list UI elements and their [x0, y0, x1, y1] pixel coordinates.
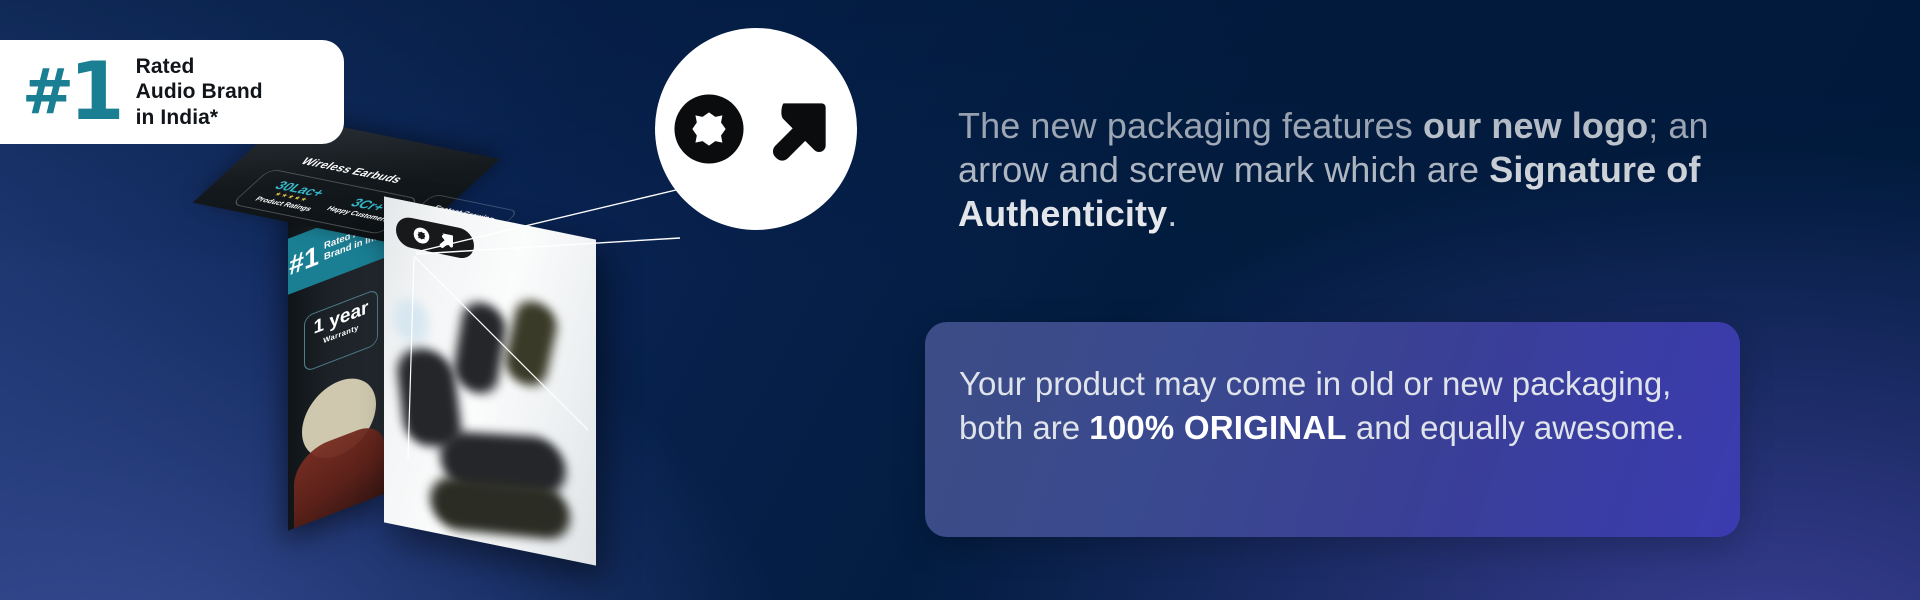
logo-callout-circle [655, 28, 857, 230]
screw-mark-icon [413, 225, 430, 245]
note-part-2: and equally awesome. [1347, 409, 1685, 446]
badge-line-2: Audio Brand [136, 79, 263, 105]
badge-number: #1 [22, 58, 122, 127]
arrow-up-right-icon [760, 89, 840, 169]
rated-number-one-badge: #1 Rated Audio Brand in India* [0, 40, 344, 144]
package-earbuds-photo [394, 256, 588, 555]
badge-line-1: Rated [136, 54, 263, 80]
note-bold-1: 100% ORIGINAL [1089, 409, 1347, 446]
headline-part-3: . [1167, 193, 1177, 234]
badge-one: 1 [69, 58, 122, 127]
badge-line-3: in India* [136, 105, 263, 131]
original-note-card: Your product may come in old or new pack… [925, 322, 1740, 537]
promo-banner: #1 Rated Audio Brand in India* #1 Rated … [0, 0, 1920, 600]
arrow-up-right-icon [436, 228, 457, 253]
screw-mark-icon [672, 92, 746, 166]
product-package-image: #1 Rated Audio Brand in India 1 year War… [288, 130, 708, 550]
badge-text: Rated Audio Brand in India* [136, 54, 263, 131]
note-text: Your product may come in old or new pack… [959, 362, 1694, 449]
headline-text: The new packaging features our new logo;… [958, 104, 1788, 236]
headline-bold-1: our new logo [1423, 105, 1648, 146]
badge-hash-symbol: # [22, 65, 71, 118]
earbud-glow [394, 296, 428, 345]
package-side-hash: #1 [289, 241, 319, 280]
earbud-left [451, 296, 509, 400]
package-front-logo-badge [396, 215, 474, 261]
package-warranty-badge: 1 year Warranty [304, 288, 378, 372]
headline-part-1: The new packaging features [958, 105, 1423, 146]
earbud-right [502, 295, 561, 393]
package-front-panel [384, 196, 596, 565]
